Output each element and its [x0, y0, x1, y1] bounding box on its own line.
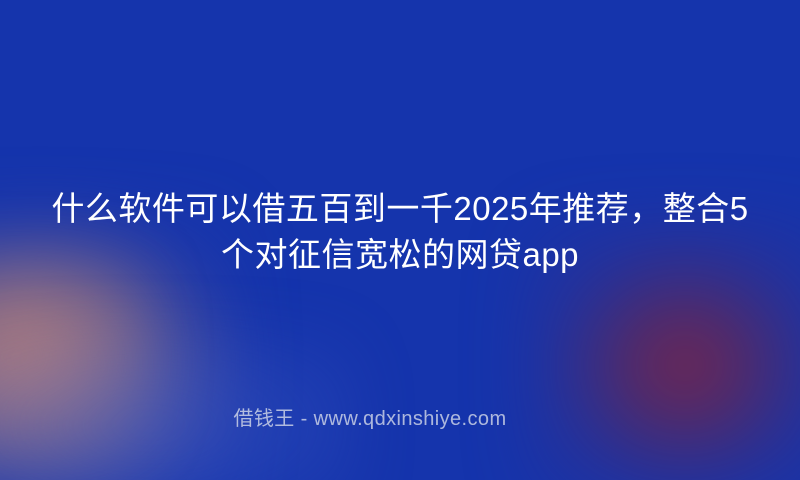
- title-line-2: 个对征信宽松的网贷app: [0, 232, 800, 278]
- banner-canvas: 什么软件可以借五百到一千2025年推荐，整合5 个对征信宽松的网贷app 借钱王…: [0, 0, 800, 480]
- title-line-1: 什么软件可以借五百到一千2025年推荐，整合5: [0, 186, 800, 232]
- background-glow-sheen: [0, 330, 360, 480]
- watermark: 借钱王 - www.qdxinshiye.com: [0, 406, 800, 432]
- page-title: 什么软件可以借五百到一千2025年推荐，整合5 个对征信宽松的网贷app: [0, 186, 800, 278]
- watermark-text: 借钱王 - www.qdxinshiye.com: [234, 406, 507, 432]
